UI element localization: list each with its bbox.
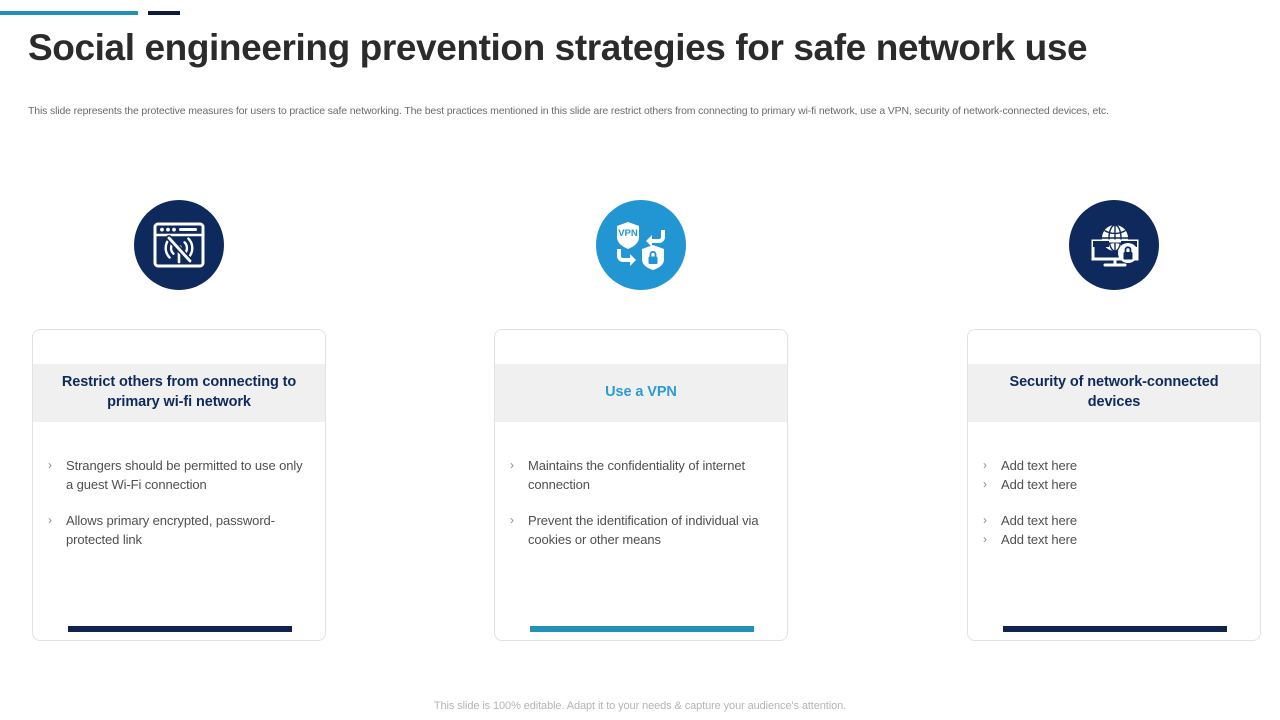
list-item-text: Maintains the confidentiality of interne… [528,457,767,495]
chevron-right-icon: › [510,457,528,474]
card-title-2: Use a VPN [605,383,677,403]
icon-circle-3 [1069,200,1159,290]
card-bottom-accent-1 [68,626,292,632]
list-item: › Allows primary encrypted, password-pro… [48,512,305,550]
card-header-2: Use a VPN [495,364,787,422]
list-item: › Add text here [983,457,1240,476]
card-security-devices: Security of network-connected devices › … [967,329,1261,641]
list-item-text: Strangers should be permitted to use onl… [66,457,305,495]
card-top-space-3 [968,330,1260,364]
top-accent-bar-teal [0,11,138,15]
card-top-space-2 [495,330,787,364]
chevron-right-icon: › [983,531,1001,548]
card-use-a-vpn: Use a VPN › Maintains the confidentialit… [494,329,788,641]
page-title: Social engineering prevention strategies… [28,27,1087,69]
list-item-text: Add text here [1001,512,1240,531]
column-security-devices: Security of network-connected devices › … [967,200,1261,641]
column-use-a-vpn: VPN Use a VPN [494,200,788,641]
card-bottom-accent-2 [530,626,754,632]
icon-circle-2: VPN [596,200,686,290]
chevron-right-icon: › [510,512,528,529]
list-item: › Maintains the confidentiality of inter… [510,457,767,495]
chevron-right-icon: › [983,476,1001,493]
chevron-right-icon: › [983,457,1001,474]
card-body-2: › Maintains the confidentiality of inter… [495,422,787,549]
chevron-right-icon: › [48,512,66,529]
bullet-group: › Allows primary encrypted, password-pro… [48,512,305,550]
monitor-globe-lock-icon [1087,221,1141,269]
card-restrict-others: Restrict others from connecting to prima… [32,329,326,641]
bullet-group: › Strangers should be permitted to use o… [48,457,305,495]
card-bottom-accent-3 [1003,626,1227,632]
card-body-1: › Strangers should be permitted to use o… [33,422,325,549]
list-item-text: Add text here [1001,457,1240,476]
list-item: › Strangers should be permitted to use o… [48,457,305,495]
list-item: › Add text here [983,476,1240,495]
list-item: › Prevent the identification of individu… [510,512,767,550]
list-item-text: Add text here [1001,531,1240,550]
list-item: › Add text here [983,512,1240,531]
list-item-text: Add text here [1001,476,1240,495]
list-item: › Add text here [983,531,1240,550]
bullet-group: › Add text here › Add text here [983,457,1240,495]
page-subtitle: This slide represents the protective mea… [28,105,1253,117]
top-accent-bar-navy [148,11,180,15]
bullet-group: › Prevent the identification of individu… [510,512,767,550]
card-top-space-1 [33,330,325,364]
icon-circle-1 [134,200,224,290]
card-title-3: Security of network-connected devices [982,373,1246,412]
card-header-1: Restrict others from connecting to prima… [33,364,325,422]
chevron-right-icon: › [48,457,66,474]
bullet-group: › Add text here › Add text here [983,512,1240,550]
chevron-right-icon: › [983,512,1001,529]
columns-container: Restrict others from connecting to prima… [0,200,1280,650]
vpn-shield-lock-icon: VPN [615,220,667,270]
svg-text:VPN: VPN [618,228,638,239]
list-item-text: Prevent the identification of individual… [528,512,767,550]
list-item-text: Allows primary encrypted, password-prote… [66,512,305,550]
column-restrict-others: Restrict others from connecting to prima… [32,200,326,641]
footer-note: This slide is 100% editable. Adapt it to… [0,700,1280,712]
card-header-3: Security of network-connected devices [968,364,1260,422]
card-body-3: › Add text here › Add text here › Add te… [968,422,1260,549]
card-title-1: Restrict others from connecting to prima… [47,373,311,412]
bullet-group: › Maintains the confidentiality of inter… [510,457,767,495]
blocked-wifi-browser-icon [153,222,205,268]
slide-root: Social engineering prevention strategies… [0,0,1280,720]
